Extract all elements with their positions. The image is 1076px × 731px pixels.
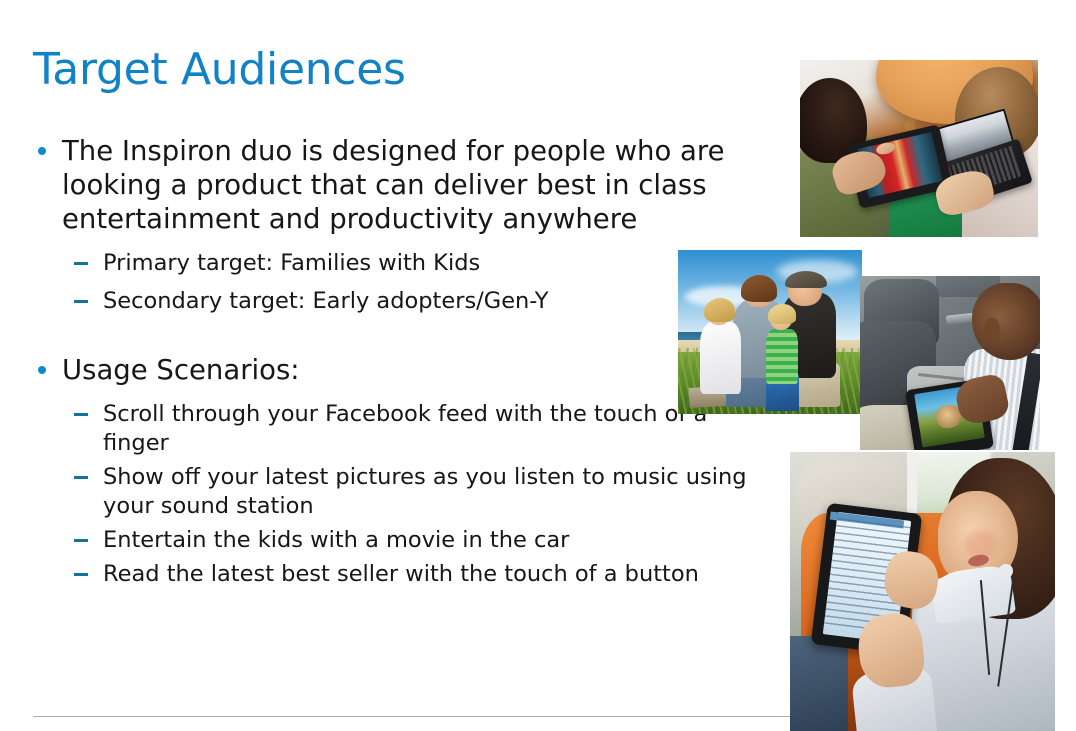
boy-head bbox=[972, 283, 1040, 360]
bullet-text: The Inspiron duo is designed for people … bbox=[62, 134, 770, 236]
bullet-text: Primary target: Families with Kids bbox=[103, 249, 770, 278]
spacer bbox=[30, 278, 770, 287]
boy-in-car-with-tablet-photo bbox=[860, 276, 1040, 450]
jeans bbox=[790, 636, 848, 731]
father-cap bbox=[785, 271, 827, 287]
bullet-scroll-facebook: Scroll through your Facebook feed with t… bbox=[30, 400, 770, 458]
bullet-dot-icon bbox=[38, 366, 46, 374]
bullet-text: Entertain the kids with a movie in the c… bbox=[103, 526, 770, 555]
bullet-dot-icon bbox=[38, 147, 46, 155]
dash-icon bbox=[74, 476, 88, 479]
bullet-text: Show off your latest pictures as you lis… bbox=[103, 463, 770, 521]
bullet-read-best-seller: Read the latest best seller with the tou… bbox=[30, 560, 770, 589]
spacer bbox=[30, 387, 770, 400]
dash-icon bbox=[74, 413, 88, 416]
bullet-show-pictures: Show off your latest pictures as you lis… bbox=[30, 463, 770, 521]
mother-hair bbox=[741, 275, 778, 303]
spacer bbox=[30, 236, 770, 249]
slide-canvas: Target Audiences The Inspiron duo is des… bbox=[0, 0, 1076, 731]
two-women-tablet-and-laptop-photo bbox=[800, 60, 1038, 237]
bullet-text: Read the latest best seller with the tou… bbox=[103, 560, 770, 589]
girl-hair bbox=[704, 298, 735, 323]
dash-icon bbox=[74, 262, 88, 265]
dash-icon bbox=[74, 300, 88, 303]
boy-body bbox=[766, 329, 797, 385]
bullet-usage-scenarios: Usage Scenarios: bbox=[30, 353, 770, 387]
girl-body bbox=[700, 322, 740, 394]
bullet-text: Scroll through your Facebook feed with t… bbox=[103, 400, 770, 458]
bullet-text: Usage Scenarios: bbox=[62, 353, 770, 387]
page-title: Target Audiences bbox=[33, 44, 406, 96]
boy-ear bbox=[984, 318, 1000, 339]
bullet-entertain-kids: Entertain the kids with a movie in the c… bbox=[30, 526, 770, 555]
earbud bbox=[999, 564, 1012, 578]
bottom-divider-line bbox=[33, 716, 790, 717]
body-content: The Inspiron duo is designed for people … bbox=[30, 134, 770, 589]
bullet-primary-target: Primary target: Families with Kids bbox=[30, 249, 770, 278]
bullet-secondary-target: Secondary target: Early adopters/Gen-Y bbox=[30, 287, 770, 316]
dash-icon bbox=[74, 539, 88, 542]
bullet-text: Secondary target: Early adopters/Gen-Y bbox=[103, 287, 770, 316]
boy-hair bbox=[768, 304, 796, 324]
bullet-inspiron-duo: The Inspiron duo is designed for people … bbox=[30, 134, 770, 236]
dash-icon bbox=[74, 573, 88, 576]
woman-on-couch-with-tablet-photo bbox=[790, 452, 1055, 731]
family-on-beach-photo bbox=[678, 250, 862, 414]
spacer bbox=[30, 316, 770, 353]
